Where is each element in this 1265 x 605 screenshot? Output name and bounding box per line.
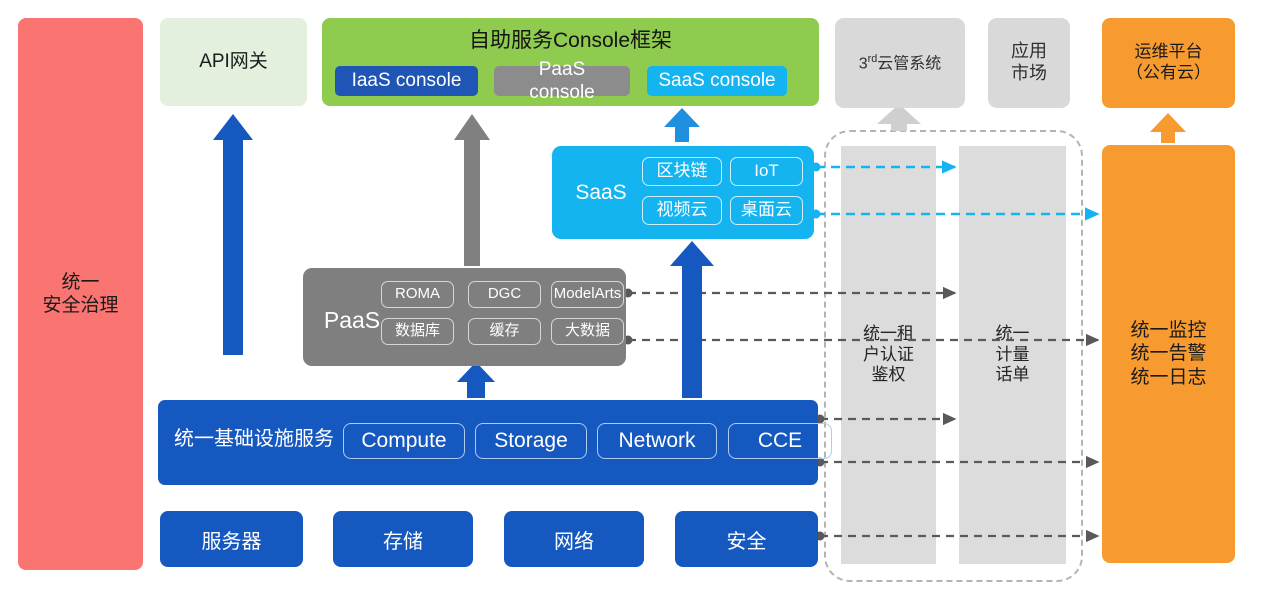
arrow-saas-to-saas-console xyxy=(664,108,700,142)
paas-chip-modelarts-label: ModelArts xyxy=(554,285,622,303)
paas-layer-block[interactable]: PaaS ROMA DGC ModelArts 数据库 缓存 大数据 xyxy=(303,268,626,366)
ops-platform-head-label: 运维平台 （公有云） xyxy=(1126,42,1211,83)
paas-chip-cache-label: 缓存 xyxy=(489,322,519,340)
band-unified-tenant-auth[interactable]: 统一租 户认证 鉴权 xyxy=(841,146,936,564)
ops-platform-body-panel[interactable]: 统一监控 统一告警 统一日志 xyxy=(1102,145,1235,563)
paas-layer-label: PaaS xyxy=(313,306,391,334)
iaas-chip-storage-label: Storage xyxy=(494,428,568,454)
hardware-box-storage[interactable]: 存储 xyxy=(333,511,473,567)
architecture-diagram: 统一租 户认证 鉴权 统一 计量 话单 xyxy=(0,0,1265,605)
arrow-band-to-third-party xyxy=(877,104,921,131)
hardware-security-label: 安全 xyxy=(727,525,767,554)
saas-chip-desktop-cloud[interactable]: 桌面云 xyxy=(730,196,803,225)
ops-platform-header-box[interactable]: 运维平台 （公有云） xyxy=(1102,18,1235,108)
console-framework-title: 自助服务Console框架 xyxy=(322,28,819,54)
unified-security-governance-panel[interactable]: 统一 安全治理 xyxy=(18,18,143,570)
saas-chip-video-cloud-label: 视频云 xyxy=(657,200,708,221)
app-market-box[interactable]: 应用 市场 xyxy=(988,18,1070,108)
paas-chip-database[interactable]: 数据库 xyxy=(381,318,454,345)
saas-console-chip[interactable]: SaaS console xyxy=(647,66,787,96)
paas-chip-dgc-label: DGC xyxy=(488,285,521,303)
paas-chip-database-label: 数据库 xyxy=(395,322,440,340)
iaas-chip-network-label: Network xyxy=(618,428,695,454)
self-service-console-framework[interactable]: 自助服务Console框架 IaaS console PaaS console … xyxy=(322,18,819,106)
unified-infrastructure-service-bar[interactable]: 统一基础设施服务 Compute Storage Network CCE xyxy=(158,400,818,485)
saas-chip-iot[interactable]: IoT xyxy=(730,157,803,186)
iaas-chip-cce-label: CCE xyxy=(758,428,802,454)
hardware-box-network[interactable]: 网络 xyxy=(504,511,644,567)
saas-chip-iot-label: IoT xyxy=(754,161,779,182)
paas-chip-bigdata-label: 大数据 xyxy=(565,322,610,340)
iaas-bar-label: 统一基础设施服务 xyxy=(174,427,334,451)
paas-chip-modelarts[interactable]: ModelArts xyxy=(551,281,624,308)
arrow-iaas-to-api-gateway xyxy=(213,114,253,355)
hardware-box-security[interactable]: 安全 xyxy=(675,511,818,567)
iaas-chip-cce[interactable]: CCE xyxy=(728,423,832,459)
paas-chip-roma-label: ROMA xyxy=(395,285,440,303)
arrow-to-ops-platform xyxy=(1150,113,1186,143)
saas-layer-block[interactable]: SaaS 区块链 IoT 视频云 桌面云 xyxy=(552,146,814,239)
band-unified-metering-billing[interactable]: 统一 计量 话单 xyxy=(959,146,1066,564)
security-rail-label: 统一 安全治理 xyxy=(42,271,118,317)
saas-chip-desktop-cloud-label: 桌面云 xyxy=(741,200,792,221)
third-party-cloud-mgmt-box[interactable]: 3rd云管系统 xyxy=(835,18,965,108)
third-party-label: 3rd云管系统 xyxy=(859,53,942,74)
saas-chip-blockchain-label: 区块链 xyxy=(657,161,708,182)
third-party-superscript: rd xyxy=(868,53,878,65)
iaas-console-chip[interactable]: IaaS console xyxy=(335,66,478,96)
saas-chip-video-cloud[interactable]: 视频云 xyxy=(642,196,722,225)
saas-layer-label: SaaS xyxy=(566,180,636,206)
api-gateway-box[interactable]: API网关 xyxy=(160,18,307,106)
saas-console-label: SaaS console xyxy=(658,69,775,92)
arrow-iaas-to-saas xyxy=(670,241,714,398)
paas-chip-bigdata[interactable]: 大数据 xyxy=(551,318,624,345)
saas-chip-blockchain[interactable]: 区块链 xyxy=(642,157,722,186)
app-market-label: 应用 市场 xyxy=(1011,41,1047,85)
paas-console-chip[interactable]: PaaS console xyxy=(494,66,630,96)
paas-chip-dgc[interactable]: DGC xyxy=(468,281,541,308)
iaas-chip-compute-label: Compute xyxy=(361,428,446,454)
ops-platform-body-label: 统一监控 统一告警 统一日志 xyxy=(1130,319,1206,389)
band-auth-label: 统一租 户认证 鉴权 xyxy=(863,324,914,386)
hardware-box-server[interactable]: 服务器 xyxy=(160,511,303,567)
iaas-console-label: IaaS console xyxy=(352,69,462,92)
iaas-chip-storage[interactable]: Storage xyxy=(475,423,587,459)
arrow-iaas-to-paas xyxy=(457,362,495,398)
band-meter-label: 统一 计量 话单 xyxy=(996,324,1030,386)
api-gateway-label: API网关 xyxy=(199,50,268,73)
hardware-network-label: 网络 xyxy=(554,525,594,554)
hardware-server-label: 服务器 xyxy=(202,525,262,554)
paas-chip-cache[interactable]: 缓存 xyxy=(468,318,541,345)
paas-console-label: PaaS console xyxy=(504,58,620,104)
iaas-chip-network[interactable]: Network xyxy=(597,423,717,459)
hardware-storage-label: 存储 xyxy=(383,525,423,554)
iaas-chip-compute[interactable]: Compute xyxy=(343,423,465,459)
paas-chip-roma[interactable]: ROMA xyxy=(381,281,454,308)
arrow-paas-to-console xyxy=(454,114,490,266)
